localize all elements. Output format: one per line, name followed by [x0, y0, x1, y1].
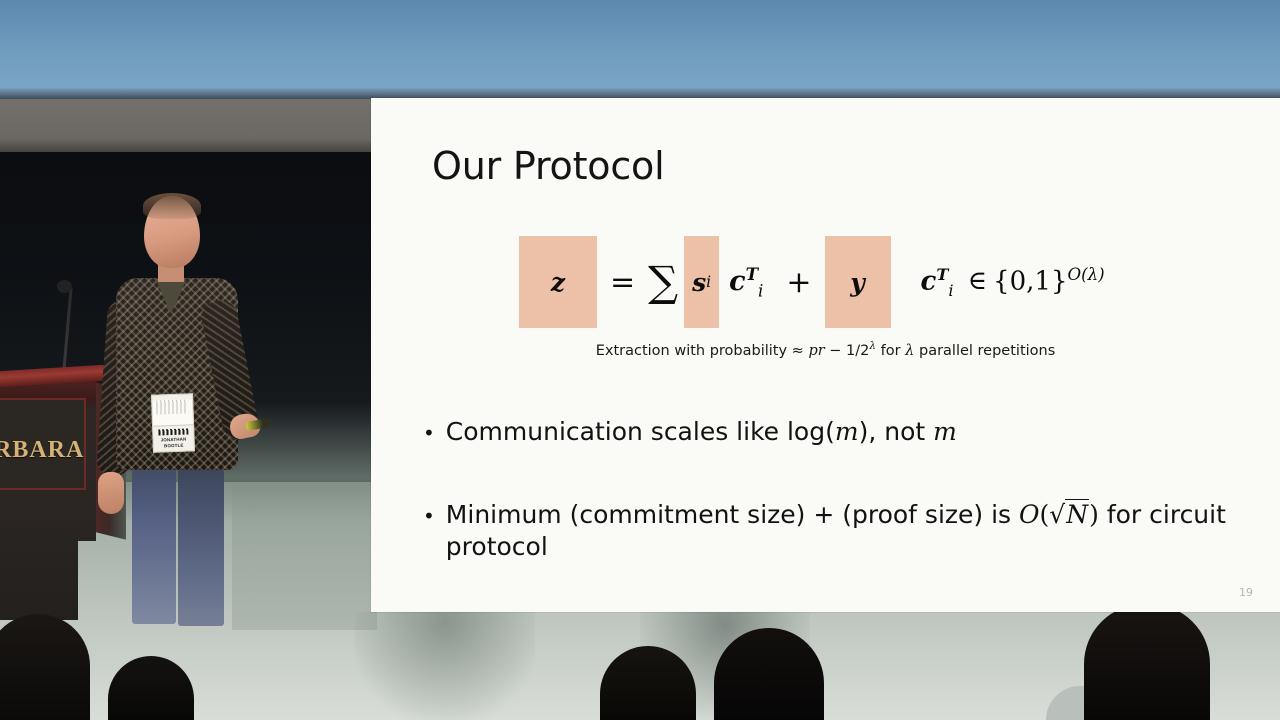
caption-pr: pr: [808, 343, 824, 359]
highlight-box-z: z: [519, 236, 597, 328]
tail-c-subscript: i: [948, 280, 953, 299]
radical-icon: √: [1049, 500, 1065, 529]
si-subscript: i: [706, 273, 711, 291]
audience-head: [1084, 604, 1210, 720]
bullet-0-before: Communication scales like log(: [446, 417, 835, 446]
caption-minus: − 1/2: [825, 343, 870, 359]
paren-close: ): [1089, 500, 1099, 529]
main-equation: z = ∑ si cTi + y cTi ∈{0,1}O(λ): [519, 236, 1105, 328]
c-transpose-term: cTi: [719, 264, 773, 300]
caption-part-2: for: [876, 343, 905, 359]
podium-venue-text: RBARA: [0, 437, 104, 464]
projected-slide: Our Protocol z = ∑ si cTi + y cTi ∈{0,1}…: [371, 98, 1280, 612]
slide-title: Our Protocol: [432, 144, 664, 188]
caption-lambda: λ: [905, 343, 914, 359]
microphone-head-icon: [57, 280, 72, 293]
c-base: c: [729, 266, 745, 297]
bullet-0-math-m1: m: [835, 417, 859, 446]
plus-sign: +: [773, 265, 824, 300]
caption-part-3: parallel repetitions: [914, 343, 1055, 359]
badge-barcode: [158, 428, 188, 435]
set-exponent: O(λ): [1067, 265, 1104, 284]
bullet-list: • Communication scales like log(m), not …: [423, 416, 1266, 612]
paren-open: (: [1040, 500, 1050, 529]
equation-caption: Extraction with probability ≈ pr − 1/2λ …: [371, 340, 1280, 359]
big-o-sqrt-expression: O(√N): [1019, 499, 1099, 529]
binary-set: {0,1}: [993, 266, 1067, 296]
si-base: s: [692, 268, 706, 297]
bullet-text-communication: Communication scales like log(m), not m: [446, 416, 957, 447]
bullet-1-before: Minimum (commitment size) + (proof size)…: [446, 500, 1019, 529]
equation-membership-clause: cTi ∈{0,1}O(λ): [891, 265, 1105, 300]
conference-photo-frame: RBARA JONATHAN BOOTLE Our Protocol z: [0, 0, 1280, 720]
badge-name-line-2: BOOTLE: [154, 442, 194, 449]
floor-shadow-left: [355, 612, 535, 720]
bullet-item-minimum-size: • Minimum (commitment size) + (proof siz…: [423, 499, 1266, 562]
upper-wall: [0, 0, 1280, 99]
badge-logo-area: [152, 399, 193, 426]
bullet-marker-icon: •: [423, 506, 435, 526]
highlight-box-y: y: [825, 236, 891, 328]
equals-sign: =: [597, 265, 648, 300]
bullet-1-big-o: O: [1019, 500, 1040, 529]
bullet-text-minimum-size: Minimum (commitment size) + (proof size)…: [446, 499, 1266, 562]
speaker-leg-left: [132, 464, 176, 624]
c-superscript-T: T: [746, 264, 758, 284]
tail-c-superscript: T: [936, 265, 948, 284]
speaker-name-badge: JONATHAN BOOTLE: [151, 393, 195, 452]
podium-base: [0, 520, 78, 620]
summation-symbol: ∑: [648, 261, 684, 303]
radicand-N: N: [1065, 499, 1089, 529]
speaker-hand-left: [98, 472, 124, 514]
tail-c-base: c: [921, 266, 937, 296]
slide-page-number: 19: [1239, 586, 1253, 599]
stage-upper-gray-band: [0, 99, 372, 156]
bullet-0-mid: ), not: [859, 417, 934, 446]
bullet-0-math-m2: m: [933, 417, 957, 446]
highlight-box-si: si: [684, 236, 719, 328]
speaker-figure: JONATHAN BOOTLE: [96, 196, 286, 620]
element-of-sign: ∈: [962, 266, 993, 296]
speaker-hair: [143, 193, 201, 219]
speaker-leg-right: [178, 464, 224, 626]
c-subscript-i: i: [758, 280, 763, 300]
bullet-marker-icon: •: [423, 423, 435, 443]
caption-part-1: Extraction with probability ≈: [596, 343, 809, 359]
bullet-item-communication: • Communication scales like log(m), not …: [423, 416, 1266, 447]
